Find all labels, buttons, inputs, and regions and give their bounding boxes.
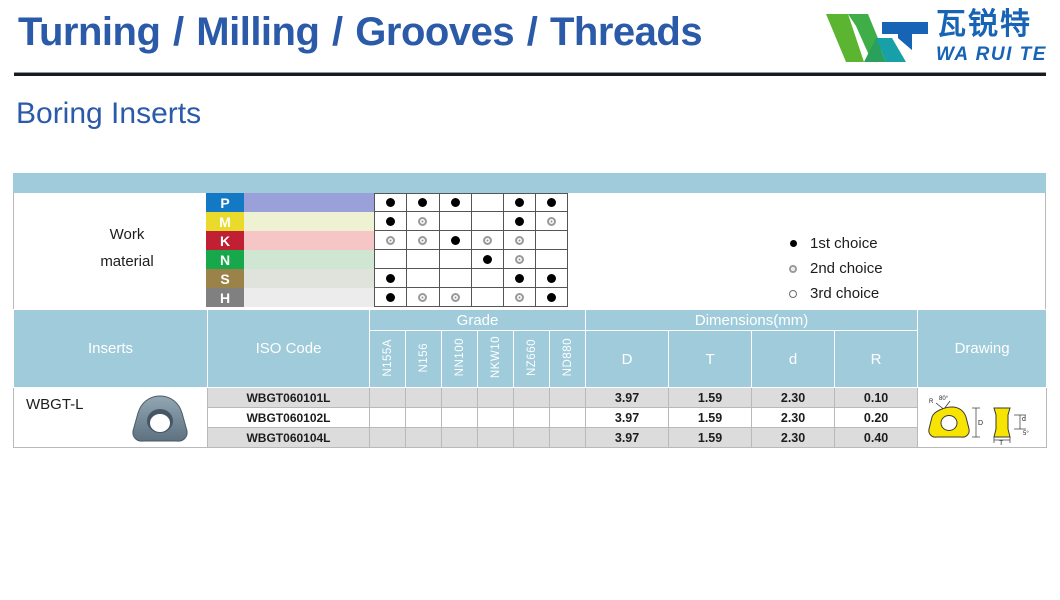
work-material-cell [503,288,535,307]
work-material-cell [535,212,567,231]
work-material-label-line1: Work [42,221,212,248]
header-dimensions: Dimensions(mm) [586,310,918,331]
header-dim-D: D [586,331,669,388]
header-dim-T: T [669,331,752,388]
grade-cell-n155a [370,388,406,408]
legend-mark-icon [784,265,802,273]
dimension-cell-T: 1.59 [669,408,752,428]
grade-cell-n155a [370,428,406,448]
work-material-cells [374,212,568,231]
work-material-swatch-m [244,212,374,231]
spec-table: Inserts ISO Code Grade Dimensions(mm) Dr… [13,309,1047,448]
header-divider [14,72,1046,76]
grade-cell-nkw10 [478,428,514,448]
mark-second-choice [483,236,492,245]
header-dim-R: R [835,331,918,388]
work-material-cell [406,231,438,250]
grade-cell-nn100 [442,428,478,448]
svg-text:T: T [999,440,1004,445]
table-row[interactable]: WBGT-L WBGT060101L3.971.592.300.10 R 80°… [14,388,1047,408]
mark-second-choice [418,236,427,245]
table-top-band [13,173,1046,193]
insert-group-name: WBGT-L [26,396,84,413]
wbgt-insert-drawing: R 80° D d 5° T [920,391,1044,445]
work-material-cell [503,212,535,231]
work-material-cell [439,193,471,212]
work-material-cell [374,269,406,288]
work-material-cell [374,212,406,231]
work-material-code-m: M [206,212,244,231]
legend-mark-icon [784,240,802,247]
logo-chinese-text: 瓦锐特 [936,8,1032,42]
mark-first-choice [547,293,556,302]
mark-second-choice [547,217,556,226]
mark-first-choice [451,236,460,245]
grade-cell-n155a [370,408,406,428]
mark-first-choice [790,240,797,247]
work-material-row-n: N [206,250,776,269]
svg-text:D: D [978,420,983,427]
grade-cell-nz660 [514,428,550,448]
work-material-cell [406,212,438,231]
work-material-swatch-p [244,193,374,212]
work-material-cell [439,231,471,250]
grade-cell-nn100 [442,388,478,408]
insert-group-cell: WBGT-L [14,388,208,448]
mark-first-choice [515,217,524,226]
header-title-separator-0: / [171,10,186,54]
header-dim-d: d [752,331,835,388]
dimension-cell-D: 3.97 [586,388,669,408]
work-material-cell [535,250,567,269]
header-grade: Grade [370,310,586,331]
dimension-cell-R: 0.20 [835,408,918,428]
work-material-code-h: H [206,288,244,307]
mark-first-choice [386,274,395,283]
mark-second-choice [789,265,797,273]
work-material-cell [406,269,438,288]
dimension-cell-T: 1.59 [669,428,752,448]
mark-second-choice [386,236,395,245]
header-title-part-0: Turning [18,10,160,54]
work-material-cell [374,193,406,212]
work-material-cell [374,231,406,250]
grade-cell-nz660 [514,388,550,408]
work-material-cell [406,250,438,269]
work-material-cell [535,288,567,307]
mark-second-choice [451,293,460,302]
work-material-swatch-k [244,231,374,250]
mark-first-choice [386,293,395,302]
work-material-label-line2: material [42,248,212,275]
legend-mark-icon [784,290,802,298]
wbgt-insert-photo [127,393,193,447]
grade-cell-n156 [406,388,442,408]
header-grade-n155a: N155A [370,331,406,388]
mark-first-choice [386,198,395,207]
work-material-cell [535,269,567,288]
header-title-part-3: Threads [550,10,702,54]
legend-item-3: 3rd choice [784,281,883,306]
logo-english-text: WA RUI TE [936,44,1047,66]
mark-second-choice [515,293,524,302]
grade-cell-nd880 [550,408,586,428]
mark-second-choice [515,236,524,245]
dimension-cell-D: 3.97 [586,408,669,428]
work-material-row-s: S [206,269,776,288]
work-material-code-s: S [206,269,244,288]
header-title-separator-1: / [330,10,345,54]
header-title-line: Turning / Milling / Grooves / Threads [18,10,702,55]
grade-cell-nz660 [514,408,550,428]
work-material-cell [471,288,503,307]
work-material-cell [471,269,503,288]
legend-item-1: 1st choice [784,231,883,256]
work-material-cells [374,193,568,212]
header-grade-nd880: ND880 [550,331,586,388]
dimension-cell-R: 0.10 [835,388,918,408]
work-material-swatch-n [244,250,374,269]
mark-first-choice [386,217,395,226]
legend-label: 1st choice [810,235,878,252]
work-material-cell [471,193,503,212]
work-material-grid: PMKNSH [206,193,776,307]
grade-col-label: NN100 [454,338,466,376]
mark-first-choice [418,198,427,207]
work-material-section: Work material PMKNSH 1st choice2nd choic… [13,193,1046,309]
mark-third-choice [789,290,797,298]
grade-col-label: NZ660 [526,339,538,376]
work-material-cell [535,231,567,250]
grade-cell-n156 [406,408,442,428]
dimension-cell-D: 3.97 [586,428,669,448]
grade-col-label: N155A [382,339,394,377]
header-title-part-2: Grooves [355,10,514,54]
mark-first-choice [515,198,524,207]
work-material-cell [439,269,471,288]
work-material-cell [471,231,503,250]
work-material-cells [374,269,568,288]
svg-text:80°: 80° [939,396,949,402]
work-material-cell [535,193,567,212]
work-material-cell [503,193,535,212]
work-material-cell [471,250,503,269]
header-inserts: Inserts [14,310,208,388]
svg-text:d: d [1022,416,1026,423]
grade-cell-nkw10 [478,408,514,428]
work-material-label: Work material [42,221,212,275]
work-material-row-h: H [206,288,776,307]
dimension-cell-T: 1.59 [669,388,752,408]
work-material-cell [406,193,438,212]
mark-first-choice [547,274,556,283]
work-material-code-n: N [206,250,244,269]
grade-cell-nd880 [550,428,586,448]
mark-second-choice [418,293,427,302]
legend-label: 2nd choice [810,260,883,277]
work-material-cell [439,212,471,231]
mark-second-choice [418,217,427,226]
work-material-swatch-h [244,288,374,307]
company-logo: 瓦锐特 WA RUI TE [824,6,1052,72]
work-material-cell [439,250,471,269]
legend-item-2: 2nd choice [784,256,883,281]
work-material-cells [374,250,568,269]
header-grade-n156: N156 [406,331,442,388]
work-material-cells [374,288,568,307]
grade-col-label: NKW10 [490,336,502,378]
grade-cell-nd880 [550,388,586,408]
header-grade-nn100: NN100 [442,331,478,388]
work-material-cell [503,250,535,269]
header-grade-nkw10: NKW10 [478,331,514,388]
work-material-cell [503,269,535,288]
grade-cell-n156 [406,428,442,448]
work-material-code-p: P [206,193,244,212]
work-material-cell [406,288,438,307]
iso-code-cell[interactable]: WBGT060101L [208,388,370,408]
page-header: Turning / Milling / Grooves / Threads 瓦锐… [0,0,1060,78]
grade-col-label: ND880 [562,338,574,376]
grade-cell-nkw10 [478,388,514,408]
choice-legend: 1st choice2nd choice3rd choice [784,231,883,306]
iso-code-cell[interactable]: WBGT060104L [208,428,370,448]
header-title-separator-2: / [525,10,540,54]
dimension-cell-d: 2.30 [752,428,835,448]
grade-col-label: N156 [418,343,430,373]
work-material-row-k: K [206,231,776,250]
drawing-cell: R 80° D d 5° T [918,388,1047,448]
work-material-cell [439,288,471,307]
work-material-swatch-s [244,269,374,288]
work-material-row-m: M [206,212,776,231]
legend-label: 3rd choice [810,285,879,302]
work-material-cell [374,288,406,307]
mark-second-choice [515,255,524,264]
warui-te-logo-mark-icon [824,8,932,68]
work-material-row-p: P [206,193,776,212]
catalog-table: Work material PMKNSH 1st choice2nd choic… [13,173,1046,448]
grade-cell-nn100 [442,408,478,428]
work-material-cell [374,250,406,269]
work-material-cells [374,231,568,250]
work-material-cell [471,212,503,231]
dimension-cell-R: 0.40 [835,428,918,448]
header-grade-nz660: NZ660 [514,331,550,388]
svg-text:5°: 5° [1023,431,1029,437]
iso-code-cell[interactable]: WBGT060102L [208,408,370,428]
header-title-part-1: Milling [196,10,319,54]
mark-first-choice [547,198,556,207]
header-iso-code: ISO Code [208,310,370,388]
mark-first-choice [515,274,524,283]
dimension-cell-d: 2.30 [752,388,835,408]
dimension-cell-d: 2.30 [752,408,835,428]
mark-first-choice [451,198,460,207]
header-drawing: Drawing [918,310,1047,388]
svg-text:R: R [929,399,934,405]
work-material-code-k: K [206,231,244,250]
work-material-cell [503,231,535,250]
page-title: Boring Inserts [16,97,201,131]
mark-first-choice [483,255,492,264]
